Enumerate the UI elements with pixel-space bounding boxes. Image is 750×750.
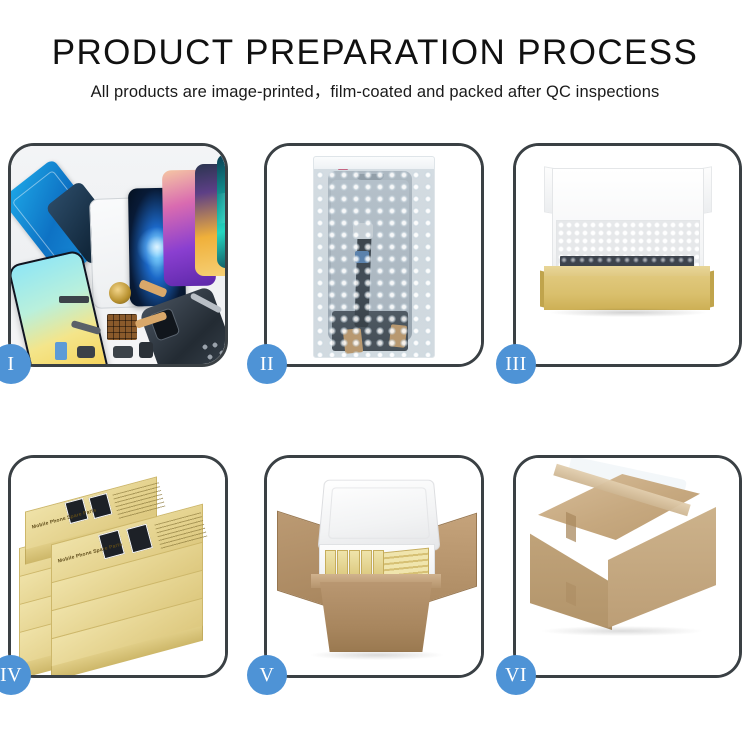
tray-shadow [550, 308, 706, 317]
tray-front-panel [544, 276, 710, 310]
bag-top-seal [314, 157, 434, 169]
part-camera-module [139, 342, 153, 358]
part-speaker [77, 346, 95, 358]
step-badge-2: II [247, 344, 287, 384]
photo-sealed-carton [516, 458, 739, 675]
step-image-6 [516, 458, 739, 675]
step-card-1[interactable]: I [8, 143, 228, 367]
part-chip-grid [107, 314, 137, 340]
box-stack: Mobile Phone Spare Parts Mobile Phone Sp… [17, 472, 223, 662]
page-root: PRODUCT PREPARATION PROCESS All products… [0, 0, 750, 750]
step-card-5[interactable]: V [264, 455, 484, 678]
foam-lid [317, 480, 440, 551]
step-badge-5: V [247, 655, 287, 695]
step-image-1 [11, 146, 225, 364]
photo-open-tray-box [516, 146, 739, 364]
step-badge-6: VI [496, 655, 536, 695]
step-card-6[interactable]: VI [513, 455, 742, 678]
bubble-wrap-bag [313, 156, 435, 358]
part-coil [109, 282, 131, 304]
steps-grid: I [0, 0, 750, 750]
step-image-5 [267, 458, 481, 675]
step-image-3 [516, 146, 739, 364]
photo-carton-with-boxes [267, 458, 481, 675]
photo-phone-parts [11, 146, 225, 364]
carton-shadow-6 [542, 626, 702, 636]
part-tool [55, 342, 67, 360]
carton-front-panel [315, 582, 437, 652]
box-front-4 [51, 618, 201, 648]
carton-seam-lower [566, 582, 576, 606]
phone-teal-screen [217, 154, 225, 268]
part-screws [201, 342, 225, 362]
part-bar-1 [59, 296, 89, 303]
photo-box-stack: Mobile Phone Spare Parts Mobile Phone Sp… [11, 458, 225, 675]
step-card-4[interactable]: Mobile Phone Spare Parts Mobile Phone Sp… [8, 455, 228, 678]
step-image-4: Mobile Phone Spare Parts Mobile Phone Sp… [11, 458, 225, 675]
part-bar-2 [113, 346, 133, 358]
step-card-3[interactable]: III [513, 143, 742, 367]
carton-seam-upper [566, 512, 576, 542]
step-badge-3: III [496, 344, 536, 384]
carton-shadow [311, 650, 443, 660]
bubble-texture [314, 157, 434, 357]
step-image-2 [267, 146, 481, 364]
step-card-2[interactable]: II [264, 143, 484, 367]
photo-bubble-wrapped-lcd [267, 146, 481, 364]
